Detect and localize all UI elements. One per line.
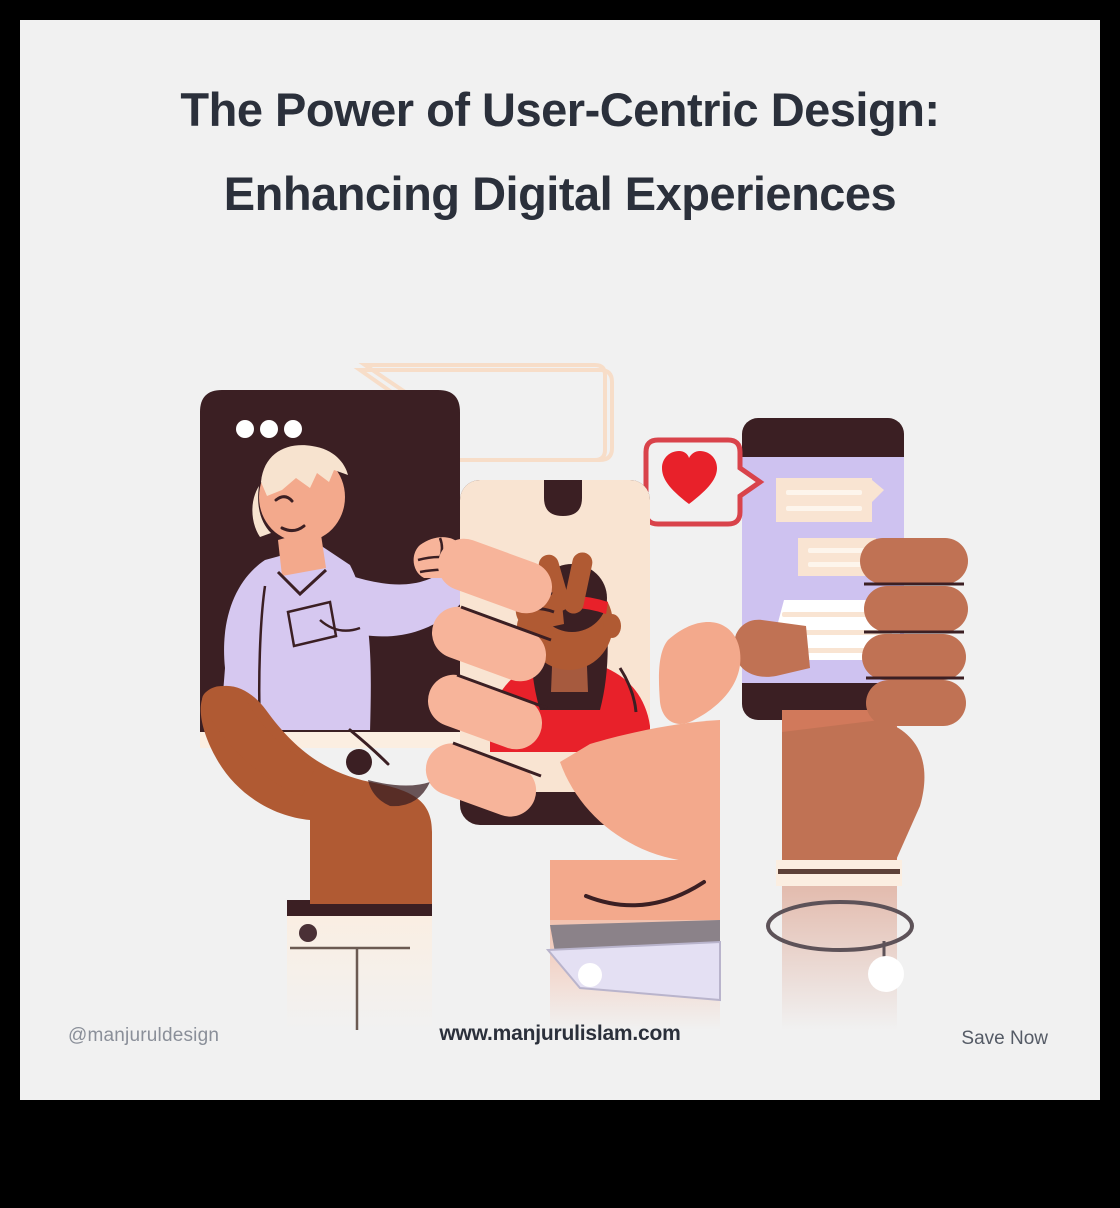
woman-ear-right xyxy=(603,614,621,638)
tablet-dot-3 xyxy=(284,420,302,438)
chat-bubble-1-line-2 xyxy=(786,506,862,511)
right-finger-3 xyxy=(862,634,966,680)
footer-website[interactable]: www.manjurulislam.com xyxy=(20,1022,1100,1046)
center-phone-notch xyxy=(544,480,582,516)
right-finger-4 xyxy=(866,680,966,726)
tablet-home-button xyxy=(346,749,372,775)
left-cuff-button xyxy=(299,924,317,942)
tablet-dot-1 xyxy=(236,420,254,438)
bracelet-charm xyxy=(868,956,904,992)
footer-save-now[interactable]: Save Now xyxy=(961,1028,1048,1050)
hero-illustration xyxy=(20,20,1100,1100)
center-thumb xyxy=(659,622,740,724)
chat-bubble-2-line-1 xyxy=(808,548,866,553)
right-thumb xyxy=(734,620,810,677)
left-sleeve xyxy=(287,905,432,1030)
chat-bubble-2-line-2 xyxy=(808,562,866,567)
poster-stage: The Power of User-Centric Design: Enhanc… xyxy=(0,0,1120,1208)
tablet-dot-2 xyxy=(260,420,278,438)
right-palm xyxy=(782,720,924,860)
center-cuff-button xyxy=(578,963,602,987)
right-finger-1 xyxy=(860,538,968,584)
right-cuff-line xyxy=(778,869,900,874)
poster-card: The Power of User-Centric Design: Enhanc… xyxy=(20,20,1100,1100)
right-finger-2 xyxy=(864,586,968,632)
chat-bubble-1-line-1 xyxy=(786,490,862,495)
